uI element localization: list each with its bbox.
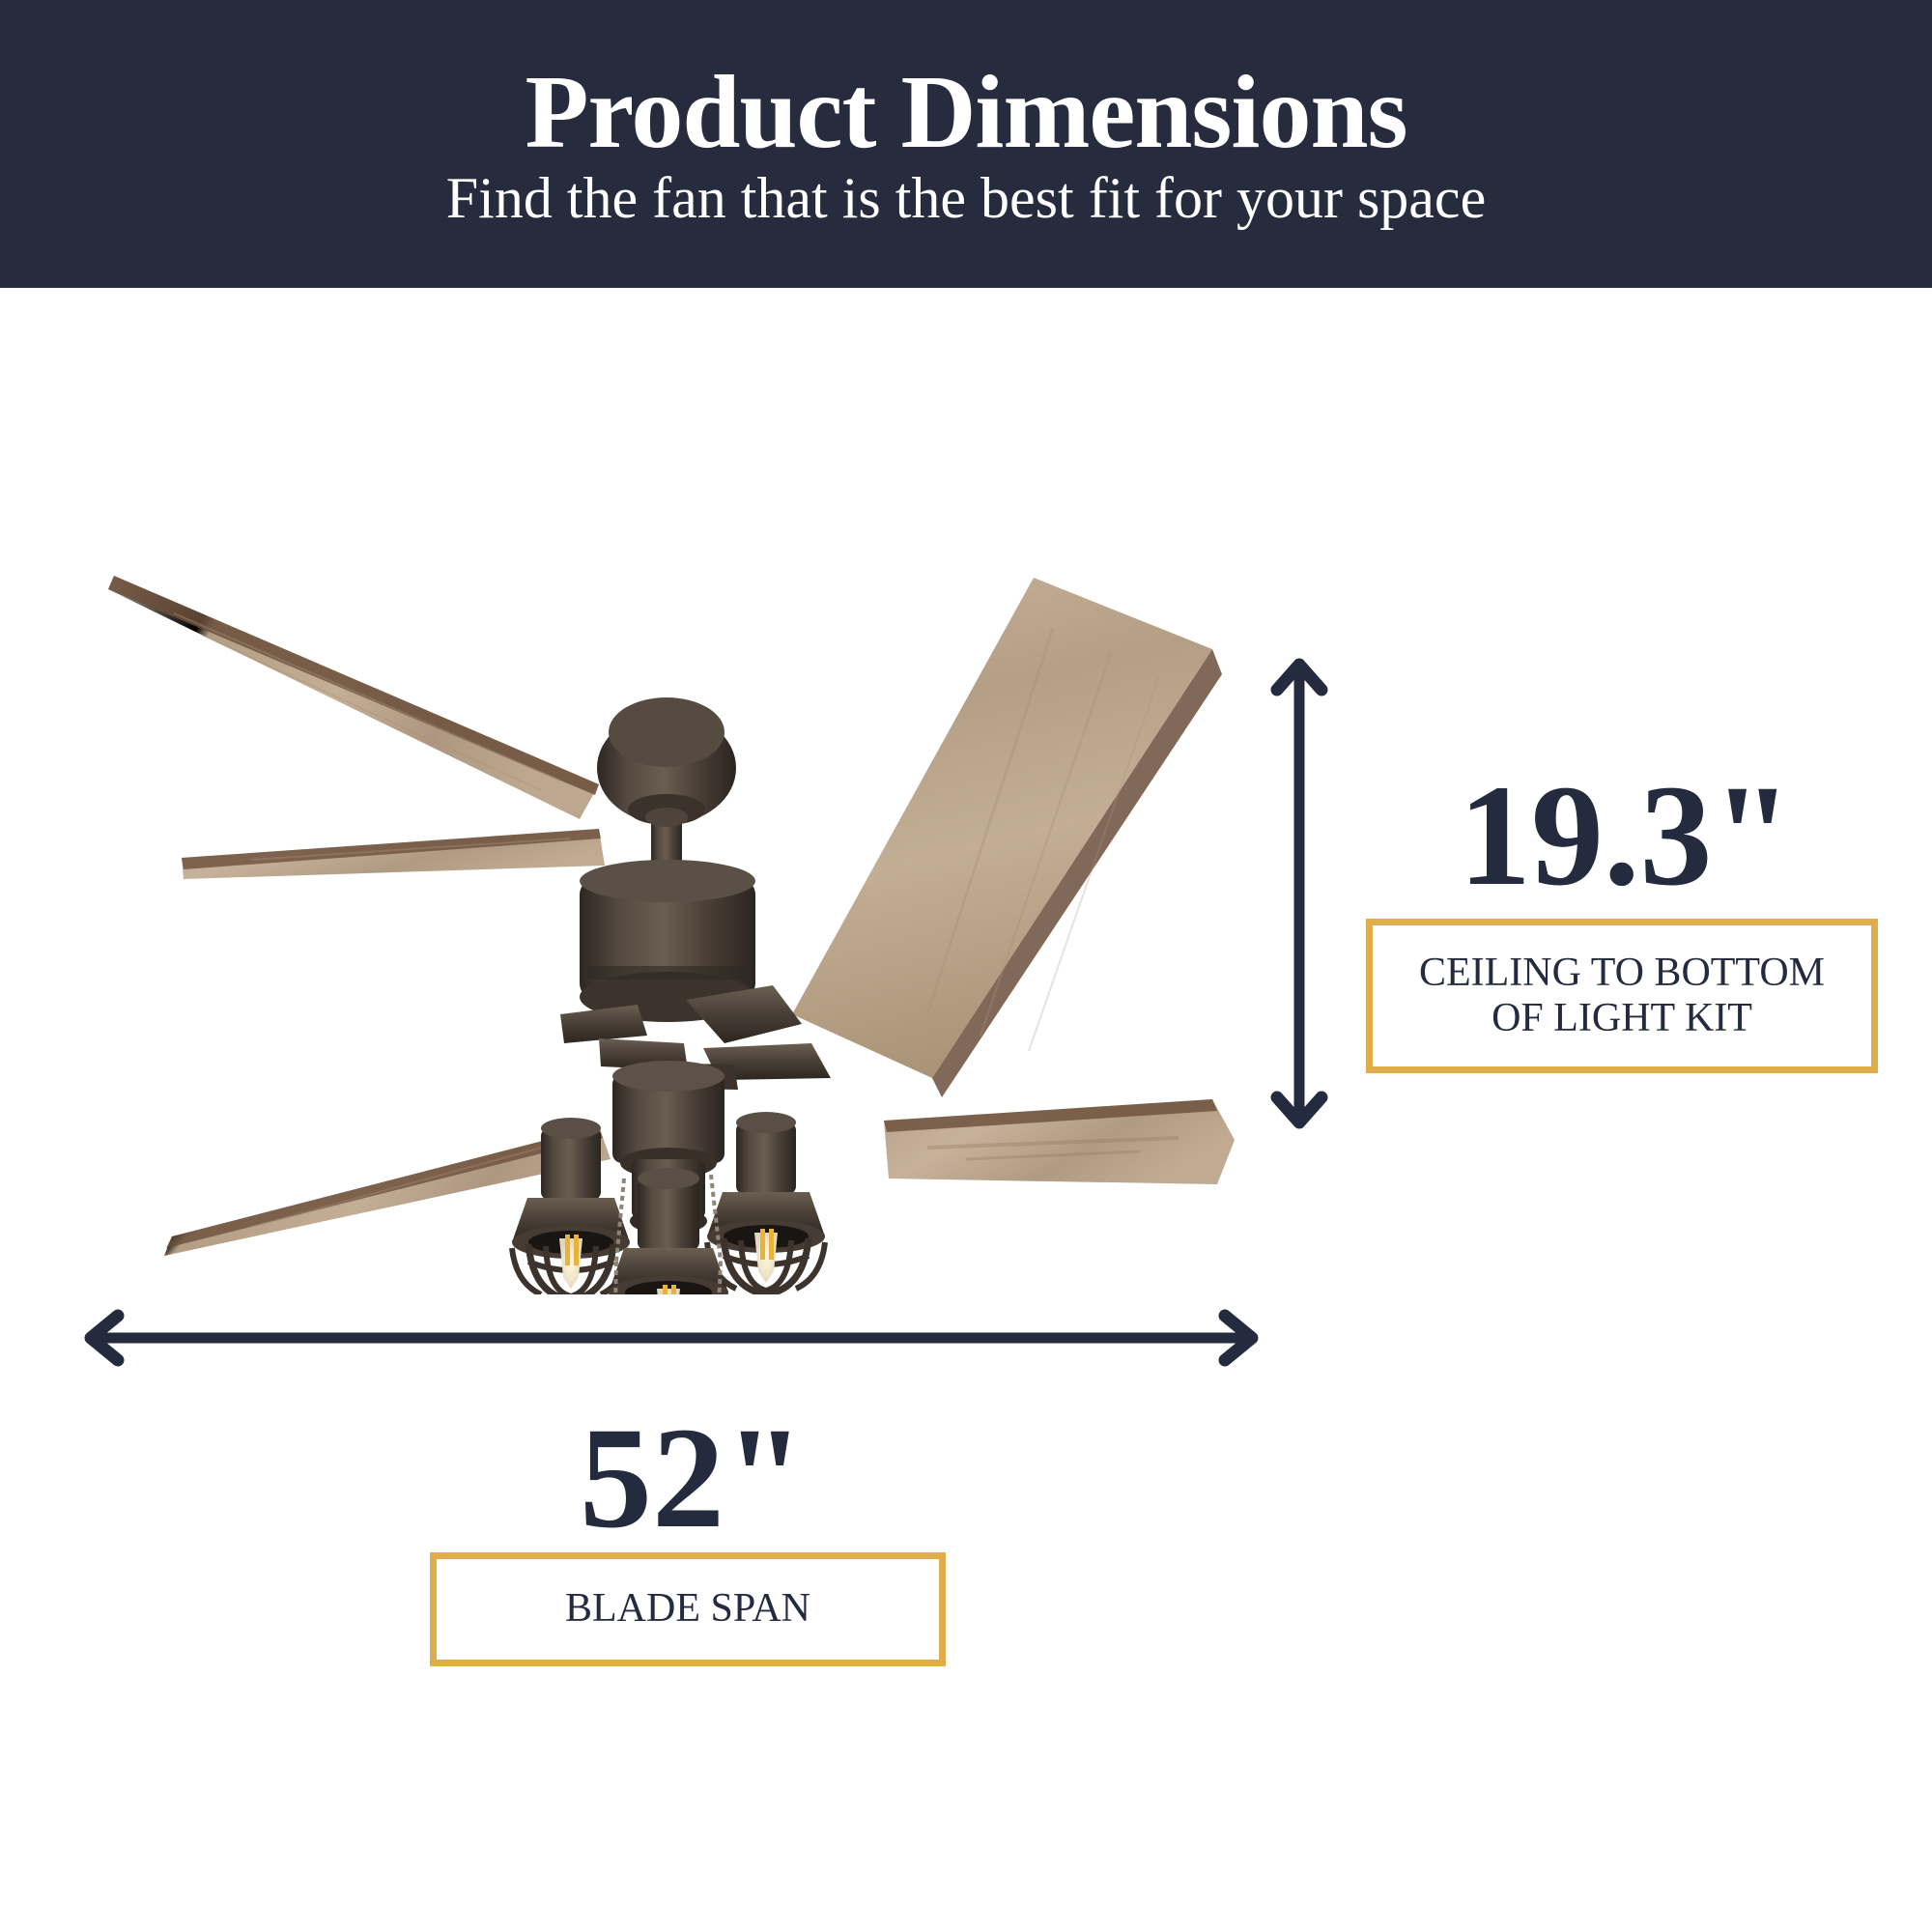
fan-canopy: [597, 697, 736, 883]
vertical-caption-line-2: OF LIGHT KIT: [1409, 996, 1834, 1041]
fan-blade: [884, 1099, 1235, 1184]
horizontal-dimension-arrow: [68, 1294, 1275, 1381]
vertical-caption-line-1: CEILING TO BOTTOM: [1409, 951, 1834, 996]
horizontal-caption-line-1: BLADE SPAN: [555, 1586, 820, 1632]
fan-blade: [792, 578, 1222, 1097]
light-fixture: [512, 1118, 630, 1294]
header-banner: Product Dimensions Find the fan that is …: [0, 0, 1932, 288]
horizontal-dimension-caption: BLADE SPAN: [430, 1552, 946, 1666]
ceiling-fan-illustration: [58, 560, 1275, 1294]
infographic-canvas: Product Dimensions Find the fan that is …: [0, 0, 1932, 1932]
page-subtitle: Find the fan that is the best fit for yo…: [446, 169, 1486, 227]
vertical-dimension-value: 19.3": [1459, 763, 1793, 908]
vertical-dimension-caption: CEILING TO BOTTOM OF LIGHT KIT: [1366, 919, 1878, 1073]
fan-blade: [182, 829, 605, 879]
vertical-dimension-arrow: [1256, 647, 1343, 1140]
light-fixture: [707, 1112, 825, 1294]
page-title: Product Dimensions: [525, 61, 1406, 165]
horizontal-dimension-value: 52": [580, 1406, 805, 1550]
fan-blade: [103, 576, 599, 819]
